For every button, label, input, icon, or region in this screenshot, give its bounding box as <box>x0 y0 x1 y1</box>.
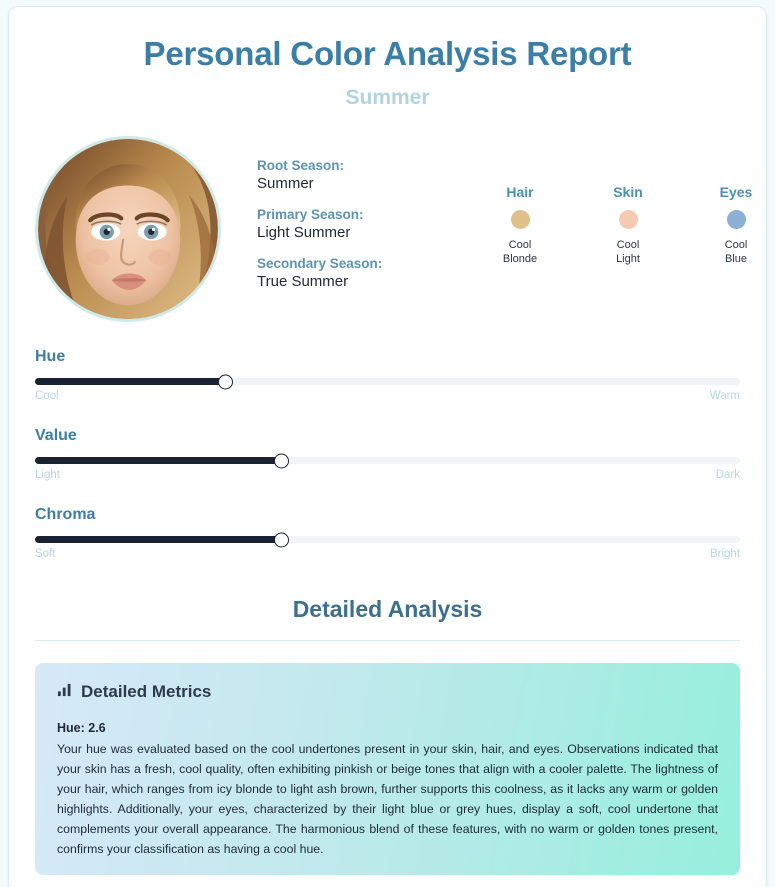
slider-group-chroma: Chroma Soft Bright <box>35 506 740 560</box>
feature-hair-desc-line2: Blonde <box>492 252 548 266</box>
slider-hue-fill <box>35 378 225 385</box>
eyes-color-swatch <box>727 210 746 229</box>
detailed-metrics-title: Detailed Metrics <box>81 682 211 702</box>
root-season-label: Root Season: <box>257 158 492 173</box>
slider-value-left-label: Light <box>35 469 60 481</box>
slider-value-title: Value <box>35 427 740 445</box>
page-title: Personal Color Analysis Report <box>35 35 740 73</box>
feature-skin: Skin Cool Light <box>600 184 656 266</box>
feature-hair-desc: Cool Blonde <box>492 238 548 266</box>
primary-season-label: Primary Season: <box>257 207 492 222</box>
primary-season-value: Light Summer <box>257 224 492 241</box>
slider-value[interactable] <box>35 457 740 464</box>
metric-hue-description: Your hue was evaluated based on the cool… <box>57 740 718 859</box>
report-card: Personal Color Analysis Report Summer <box>8 6 767 887</box>
slider-group-hue: Hue Cool Warm <box>35 348 740 402</box>
slider-value-thumb[interactable] <box>274 453 289 468</box>
slider-chroma-right-label: Bright <box>710 548 740 560</box>
portrait-illustration <box>38 139 218 319</box>
slider-chroma-title: Chroma <box>35 506 740 524</box>
slider-chroma-thumb[interactable] <box>274 532 289 547</box>
detailed-metrics-header: Detailed Metrics <box>57 682 718 702</box>
feature-eyes-desc-line2: Blue <box>708 252 764 266</box>
feature-eyes-title: Eyes <box>708 184 764 200</box>
feature-skin-desc-line2: Light <box>600 252 656 266</box>
slider-hue-right-label: Warm <box>710 390 740 402</box>
feature-hair-desc-line1: Cool <box>492 238 548 252</box>
detailed-analysis-heading: Detailed Analysis <box>35 596 740 623</box>
hair-color-swatch <box>511 210 530 229</box>
feature-hair: Hair Cool Blonde <box>492 184 548 266</box>
slider-group-value: Value Light Dark <box>35 427 740 481</box>
skin-color-swatch <box>619 210 638 229</box>
slider-hue-thumb[interactable] <box>218 374 233 389</box>
bar-chart-icon <box>57 682 72 702</box>
slider-chroma-fill <box>35 536 282 543</box>
feature-skin-desc-line1: Cool <box>600 238 656 252</box>
slider-chroma-left-label: Soft <box>35 548 55 560</box>
attribute-sliders: Hue Cool Warm Value Light Dark <box>35 348 740 560</box>
secondary-season-label: Secondary Season: <box>257 256 492 271</box>
avatar <box>35 136 221 322</box>
page-background: Personal Color Analysis Report Summer <box>0 0 775 887</box>
metric-hue-name: Hue: 2.6 <box>57 721 718 735</box>
feature-eyes-desc-line1: Cool <box>708 238 764 252</box>
feature-skin-desc: Cool Light <box>600 238 656 266</box>
secondary-season-value: True Summer <box>257 273 492 290</box>
season-details: Root Season: Summer Primary Season: Ligh… <box>257 136 492 290</box>
feature-hair-title: Hair <box>492 184 548 200</box>
slider-hue-left-label: Cool <box>35 390 59 402</box>
feature-swatches: Hair Cool Blonde Skin Cool Light <box>492 136 767 266</box>
root-season-value: Summer <box>257 175 492 192</box>
profile-summary: Root Season: Summer Primary Season: Ligh… <box>35 136 740 326</box>
slider-chroma[interactable] <box>35 536 740 543</box>
feature-eyes: Eyes Cool Blue <box>708 184 764 266</box>
slider-hue[interactable] <box>35 378 740 385</box>
season-subtitle: Summer <box>35 86 740 110</box>
slider-value-endpoints: Light Dark <box>35 469 740 481</box>
slider-hue-endpoints: Cool Warm <box>35 390 740 402</box>
feature-eyes-desc: Cool Blue <box>708 238 764 266</box>
slider-hue-title: Hue <box>35 348 740 366</box>
feature-skin-title: Skin <box>600 184 656 200</box>
detailed-metrics-panel: Detailed Metrics Hue: 2.6 Your hue was e… <box>35 663 740 875</box>
slider-value-right-label: Dark <box>716 469 740 481</box>
section-divider <box>35 640 740 641</box>
slider-value-fill <box>35 457 282 464</box>
slider-chroma-endpoints: Soft Bright <box>35 548 740 560</box>
